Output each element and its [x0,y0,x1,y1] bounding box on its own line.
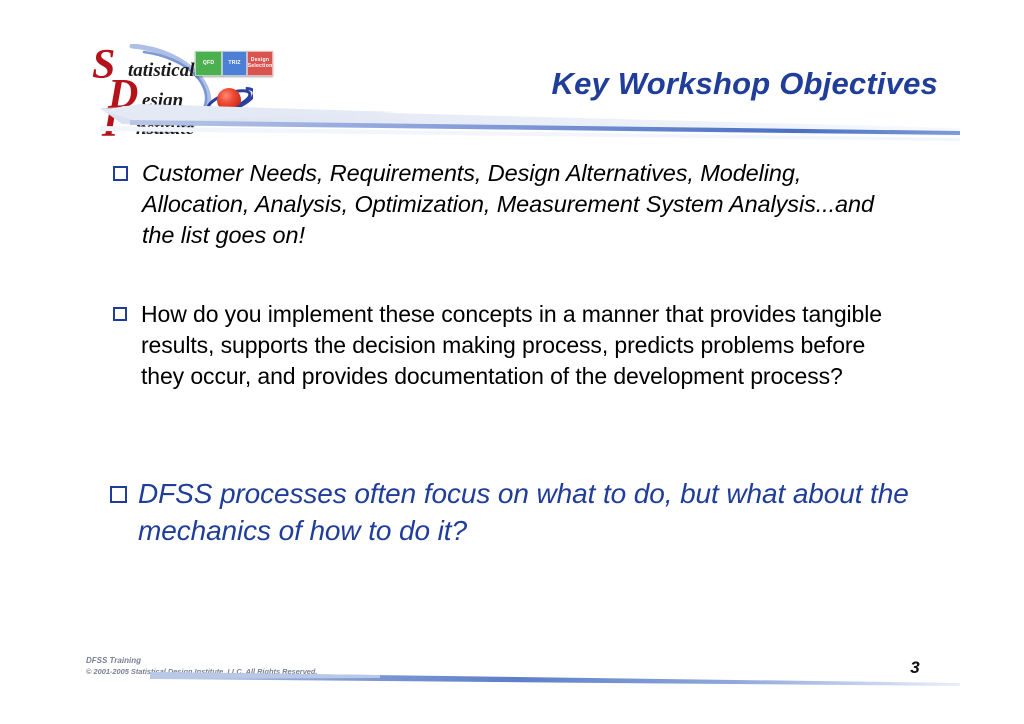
bullet-item-3: DFSS processes often focus on what to do… [110,475,920,549]
square-bullet-icon [113,166,128,181]
page-title: Key Workshop Objectives [0,66,938,102]
square-bullet-icon [113,307,127,321]
slide-header: S D I tatistical esign nstitute QFD TRIZ… [0,0,1024,148]
header-divider-swoosh [100,100,960,144]
slide-body: Customer Needs, Requirements, Design Alt… [0,150,1024,640]
bullet-item-1: Customer Needs, Requirements, Design Alt… [113,158,903,251]
footer-line-1: DFSS Training [86,655,317,666]
footer-divider-swoosh [80,670,960,690]
bullet-item-2: How do you implement these concepts in a… [113,299,913,392]
page-number: 3 [900,658,930,678]
bullet-text-3: DFSS processes often focus on what to do… [138,475,920,549]
bullet-text-1: Customer Needs, Requirements, Design Alt… [142,158,903,251]
square-bullet-icon [110,486,127,503]
bullet-text-2: How do you implement these concepts in a… [141,299,913,392]
slide-canvas: S D I tatistical esign nstitute QFD TRIZ… [0,0,1024,724]
slide-footer: DFSS Training © 2001-2005 Statistical De… [0,640,1024,724]
